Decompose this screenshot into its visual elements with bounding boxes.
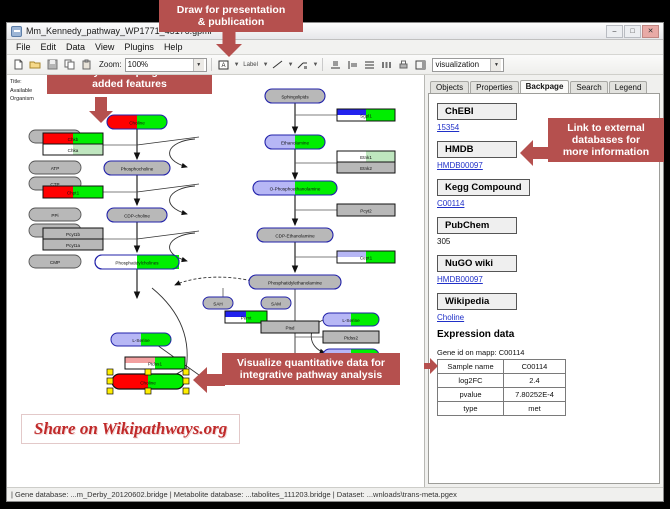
database-entry-kegg: Kegg Compound C00114 bbox=[437, 177, 651, 208]
paste-icon[interactable] bbox=[78, 57, 94, 73]
database-link-wikipedia[interactable]: Choline bbox=[437, 313, 651, 322]
visualization-value: visualization bbox=[435, 60, 490, 69]
svg-text:Chka: Chka bbox=[68, 148, 79, 153]
anchor-chevron-icon[interactable]: ▼ bbox=[313, 62, 319, 68]
callout-share: Share on Wikipathways.org bbox=[21, 414, 240, 444]
svg-text:L-Serine: L-Serine bbox=[342, 318, 360, 323]
copy-icon[interactable] bbox=[61, 57, 77, 73]
svg-text:Etnk2: Etnk2 bbox=[360, 166, 372, 171]
stack-icon[interactable] bbox=[361, 57, 377, 73]
line-chevron-icon[interactable]: ▼ bbox=[288, 62, 294, 68]
minimize-button[interactable]: – bbox=[606, 25, 623, 38]
callout-links-text: Link to external databases for more info… bbox=[563, 122, 649, 158]
svg-text:Phosphatidylethanolamine: Phosphatidylethanolamine bbox=[268, 281, 322, 286]
expression-key-pvalue: pvalue bbox=[438, 388, 504, 402]
database-name-chebi: ChEBI bbox=[437, 103, 517, 120]
visualization-chevron-down-icon[interactable]: ▼ bbox=[490, 59, 501, 71]
svg-text:L-Serine: L-Serine bbox=[132, 338, 150, 343]
table-row: pvalue 7.80252E-4 bbox=[438, 388, 566, 402]
visualization-combo[interactable]: visualization ▼ bbox=[432, 58, 504, 72]
callout-visualize: Visualize quantitative data for integrat… bbox=[222, 353, 400, 385]
svg-text:Chpt1: Chpt1 bbox=[67, 191, 80, 196]
new-file-icon[interactable] bbox=[10, 57, 26, 73]
svg-text:O-Phosphoethanolamine: O-Phosphoethanolamine bbox=[270, 187, 321, 192]
toolbar-separator bbox=[211, 58, 212, 71]
database-name-kegg: Kegg Compound bbox=[437, 179, 530, 196]
datanode-chevron-icon[interactable]: ▼ bbox=[234, 62, 240, 68]
table-row: Sample name C00114 bbox=[438, 360, 566, 374]
sidebar-toggle-icon[interactable] bbox=[412, 57, 428, 73]
tab-properties[interactable]: Properties bbox=[470, 81, 518, 93]
maximize-button[interactable]: □ bbox=[624, 25, 641, 38]
pathvisio-window: Mm_Kennedy_pathway_WP1771_45176.gpml – □… bbox=[6, 22, 664, 502]
database-entry-nugo: NuGO wiki HMDB00097 bbox=[437, 253, 651, 284]
svg-text:Pcyt2: Pcyt2 bbox=[360, 209, 372, 214]
expression-key-log2fc: log2FC bbox=[438, 374, 504, 388]
svg-text:ATP: ATP bbox=[51, 166, 60, 171]
svg-text:Phosphocholine: Phosphocholine bbox=[121, 167, 154, 172]
expression-key-sample-name: Sample name bbox=[438, 360, 504, 374]
expression-value-type: met bbox=[504, 402, 566, 416]
callout-expression-arrow-icon bbox=[424, 358, 438, 379]
callout-plugins-arrow-icon bbox=[89, 97, 113, 128]
expression-data-table: Sample name C00114 log2FC 2.4 pvalue 7.8… bbox=[437, 359, 566, 416]
tab-legend[interactable]: Legend bbox=[609, 81, 648, 93]
tab-search[interactable]: Search bbox=[570, 81, 607, 93]
pathway-info-title: Title: bbox=[10, 78, 34, 87]
svg-text:A: A bbox=[222, 63, 226, 69]
svg-text:SAH: SAH bbox=[213, 302, 222, 307]
database-entry-pubchem: PubChem 305 bbox=[437, 215, 651, 246]
callout-share-text: Share on Wikipathways.org bbox=[34, 419, 227, 438]
label-icon[interactable]: Label bbox=[241, 57, 261, 73]
callout-draw-text: Draw for presentation & publication bbox=[177, 4, 286, 28]
label-chevron-icon[interactable]: ▼ bbox=[263, 62, 269, 68]
tab-backpage[interactable]: Backpage bbox=[520, 80, 570, 93]
zoom-value: 100% bbox=[128, 60, 193, 69]
database-name-nugo: NuGO wiki bbox=[437, 255, 517, 272]
distribute-icon[interactable] bbox=[378, 57, 394, 73]
menu-bar: File Edit Data View Plugins Help bbox=[7, 40, 663, 55]
callout-links-arrow-icon bbox=[520, 140, 550, 171]
svg-text:PPi: PPi bbox=[51, 213, 58, 218]
expression-key-type: type bbox=[438, 402, 504, 416]
menu-item-help[interactable]: Help bbox=[159, 42, 188, 52]
svg-text:Chkb: Chkb bbox=[68, 137, 79, 142]
svg-text:Phosphatidylcholines: Phosphatidylcholines bbox=[115, 261, 159, 266]
expression-data-heading: Expression data bbox=[437, 329, 651, 340]
pathway-info-license: Available bbox=[10, 87, 34, 96]
zoom-combo[interactable]: 100% ▼ bbox=[125, 58, 207, 72]
menu-item-file[interactable]: File bbox=[11, 42, 36, 52]
table-row: type met bbox=[438, 402, 566, 416]
menu-item-data[interactable]: Data bbox=[61, 42, 90, 52]
svg-text:Pcyt1a: Pcyt1a bbox=[66, 243, 80, 248]
save-icon[interactable] bbox=[44, 57, 60, 73]
database-entry-wikipedia: Wikipedia Choline bbox=[437, 291, 651, 322]
database-name-wikipedia: Wikipedia bbox=[437, 293, 517, 310]
pathway-info-organism: Organism bbox=[10, 95, 34, 104]
menu-item-plugins[interactable]: Plugins bbox=[119, 42, 159, 52]
database-link-nugo[interactable]: HMDB00097 bbox=[437, 275, 651, 284]
tab-objects[interactable]: Objects bbox=[430, 81, 469, 93]
svg-text:Ethanolamine: Ethanolamine bbox=[281, 141, 310, 146]
callout-visualize-arrow-icon bbox=[193, 367, 225, 398]
svg-text:Etnk1: Etnk1 bbox=[360, 155, 372, 160]
expression-value-log2fc: 2.4 bbox=[504, 374, 566, 388]
app-icon bbox=[11, 26, 22, 37]
svg-text:Choline: Choline bbox=[140, 381, 156, 386]
status-bar-text: | Gene database: ...m_Derby_20120602.bri… bbox=[11, 490, 457, 499]
align-bottom-icon[interactable] bbox=[327, 57, 343, 73]
expression-value-sample-name: C00114 bbox=[504, 360, 566, 374]
table-row: log2FC 2.4 bbox=[438, 374, 566, 388]
callout-draw-arrow-icon bbox=[216, 31, 242, 62]
database-name-pubchem: PubChem bbox=[437, 217, 517, 234]
svg-text:CDP-choline: CDP-choline bbox=[124, 214, 150, 219]
database-value-pubchem: 305 bbox=[437, 237, 651, 246]
callout-plugins-line1: Easily install plugins for added feature… bbox=[69, 75, 190, 90]
open-folder-icon[interactable] bbox=[27, 57, 43, 73]
menu-item-edit[interactable]: Edit bbox=[36, 42, 62, 52]
database-link-kegg[interactable]: C00114 bbox=[437, 199, 651, 208]
zoom-label: Zoom: bbox=[99, 60, 122, 69]
svg-text:Ptdss1: Ptdss1 bbox=[148, 362, 162, 367]
menu-item-view[interactable]: View bbox=[90, 42, 119, 52]
callout-visualize-text: Visualize quantitative data for integrat… bbox=[237, 357, 385, 381]
svg-text:Choline: Choline bbox=[129, 121, 145, 126]
align-left-icon[interactable] bbox=[344, 57, 360, 73]
svg-text:SAM: SAM bbox=[271, 302, 281, 307]
svg-text:CMP: CMP bbox=[50, 260, 60, 265]
callout-links: Link to external databases for more info… bbox=[548, 118, 664, 162]
anchor-icon[interactable] bbox=[295, 57, 311, 73]
toolbar: Zoom: 100% ▼ A ▼ Label ▼ ▼ ▼ bbox=[7, 55, 663, 75]
database-name-hmdb: HMDB bbox=[437, 141, 517, 158]
callout-draw: Draw for presentation & publication bbox=[159, 0, 303, 32]
callout-plugins: Easily install plugins for added feature… bbox=[47, 75, 212, 94]
svg-text:Pcyt1b: Pcyt1b bbox=[66, 232, 80, 237]
expression-gene-id: Gene id on mapp: C00114 bbox=[437, 348, 651, 357]
svg-text:Sgpl1: Sgpl1 bbox=[360, 114, 372, 119]
print-icon[interactable] bbox=[395, 57, 411, 73]
svg-text:Sphingolipids: Sphingolipids bbox=[281, 95, 309, 100]
pathway-canvas[interactable]: Title: Available Organism bbox=[7, 75, 425, 487]
svg-text:Pemt: Pemt bbox=[241, 316, 252, 321]
expression-value-pvalue: 7.80252E-4 bbox=[504, 388, 566, 402]
chevron-down-icon[interactable]: ▼ bbox=[193, 59, 204, 71]
window-controls: – □ ✕ bbox=[606, 25, 659, 38]
status-bar: | Gene database: ...m_Derby_20120602.bri… bbox=[7, 487, 663, 501]
side-panel-tabs: Objects Properties Backpage Search Legen… bbox=[427, 78, 661, 93]
svg-text:Pisd: Pisd bbox=[286, 326, 295, 331]
title-bar: Mm_Kennedy_pathway_WP1771_45176.gpml – □… bbox=[7, 23, 663, 40]
line-icon[interactable] bbox=[270, 57, 286, 73]
svg-text:Ptdss2: Ptdss2 bbox=[344, 336, 358, 341]
pathway-info-block: Title: Available Organism bbox=[10, 78, 34, 104]
svg-text:Cept1: Cept1 bbox=[360, 256, 373, 261]
close-button[interactable]: ✕ bbox=[642, 25, 659, 38]
toolbar-separator-2 bbox=[322, 58, 323, 71]
svg-text:CDP-Ethanolamine: CDP-Ethanolamine bbox=[275, 234, 315, 239]
